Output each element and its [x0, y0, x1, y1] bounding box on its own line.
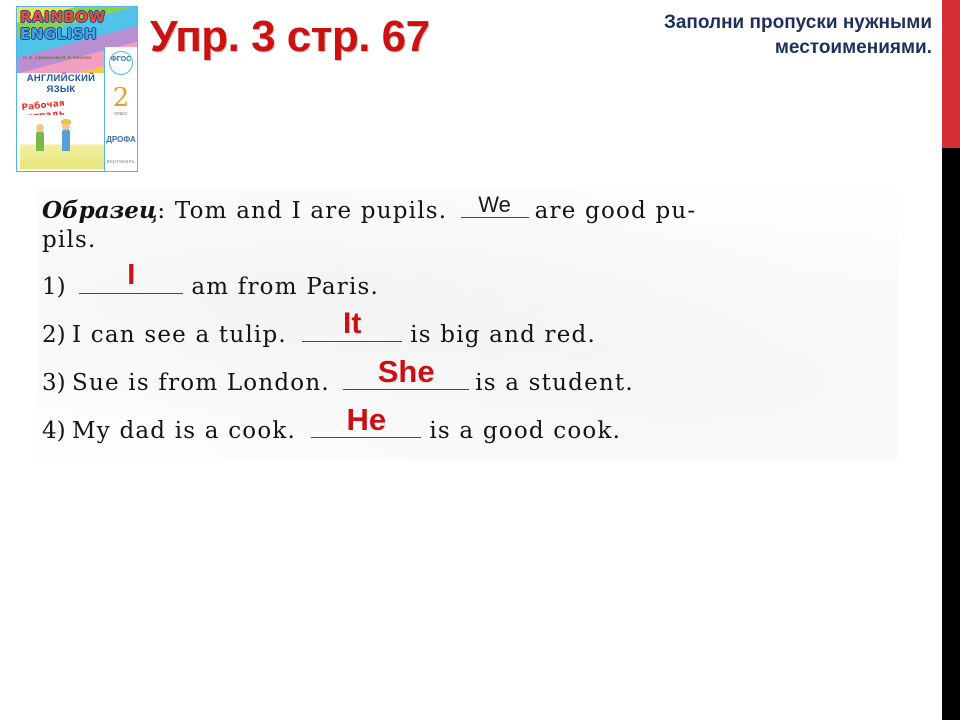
item-2-number: 2) — [42, 321, 72, 350]
item-2-after-text: is big and red. — [410, 322, 596, 348]
item-4-after-text: is a good cook. — [429, 418, 621, 444]
item-2-blank[interactable]: It — [302, 311, 402, 342]
item-2-answer: It — [302, 309, 402, 339]
sample-label: Образец — [42, 197, 157, 224]
instruction-text: Заполни пропуски нужными местоимениями. — [556, 10, 932, 60]
item-4-number: 4) — [42, 417, 72, 446]
item-1-after-text: am from Paris. — [191, 274, 379, 300]
page-title: Упр. 3 стр. 67 — [150, 12, 550, 62]
edge-accent-bar-red — [942, 0, 960, 148]
exercise-item-2: 2)I can see a tulip. It is big and red. — [42, 311, 898, 350]
item-4-before-text: My dad is a cook. — [72, 418, 296, 444]
book-cover-series-word-1: RAINBOW — [20, 8, 106, 26]
fgos-badge-icon: ФГОС — [109, 51, 133, 75]
edge-accent-bar-black — [942, 148, 960, 720]
item-1-blank[interactable]: I — [79, 263, 183, 294]
item-3-answer: She — [343, 356, 469, 387]
exercise-item-3: 3)Sue is from London. She is a student. — [42, 359, 898, 398]
book-cover-side-column: ФГОС 2 класс ДРОФА вертикаль — [104, 47, 137, 171]
illustration-child-a-body — [36, 131, 44, 151]
publisher-imprint: вертикаль — [105, 159, 137, 165]
book-cover-subject: АНГЛИЙСКИЙ ЯЗЫК — [17, 73, 105, 95]
item-3-before-text: Sue is from London. — [72, 370, 330, 396]
sample-answer: We — [461, 194, 529, 216]
book-cover-series-word-2: ENGLISH — [20, 25, 97, 43]
exercise-item-1: 1) I am from Paris. — [42, 263, 898, 302]
illustration-child-b-hair — [61, 119, 71, 124]
item-3-after-text: is a student. — [475, 370, 634, 396]
book-cover-image: RAINBOW ENGLISH О. В. Афанасьева И. В. М… — [16, 6, 138, 172]
book-cover-series-title: RAINBOW ENGLISH — [20, 9, 136, 43]
item-4-answer: He — [311, 404, 421, 435]
sample-before-text: : Tom and I are pupils. — [157, 198, 447, 224]
publisher-logo-icon: ДРОФА — [105, 135, 137, 144]
exercise-sample-line: Образец: Tom and I are pupils. We are go… — [42, 190, 898, 226]
item-2-before-text: I can see a tulip. — [72, 322, 287, 348]
exercise-scan-image: Образец: Tom and I are pupils. We are go… — [38, 190, 898, 460]
item-3-blank[interactable]: She — [343, 359, 469, 390]
book-cover-illustration — [20, 115, 104, 169]
sample-blank[interactable]: We — [461, 190, 529, 218]
sample-wrap-text: pils. — [42, 227, 97, 253]
illustration-child-a-head — [36, 124, 44, 132]
item-4-blank[interactable]: He — [311, 407, 421, 438]
book-cover-authors: О. В. Афанасьева И. В. Михеева — [23, 55, 91, 61]
item-1-number: 1) — [42, 273, 72, 302]
item-1-answer: I — [79, 261, 183, 290]
slide-canvas: RAINBOW ENGLISH О. В. Афанасьева И. В. М… — [0, 0, 960, 720]
illustration-child-b-body — [62, 129, 70, 151]
item-3-number: 3) — [42, 369, 72, 398]
book-cover-grade-word: класс — [105, 111, 137, 117]
exercise-item-4: 4)My dad is a cook. He is a good cook. — [42, 407, 898, 446]
sample-after-text: are good pu- — [535, 198, 697, 224]
book-cover-grade-number: 2 — [105, 83, 137, 113]
exercise-sample-wrap-line: pils. — [42, 226, 898, 255]
